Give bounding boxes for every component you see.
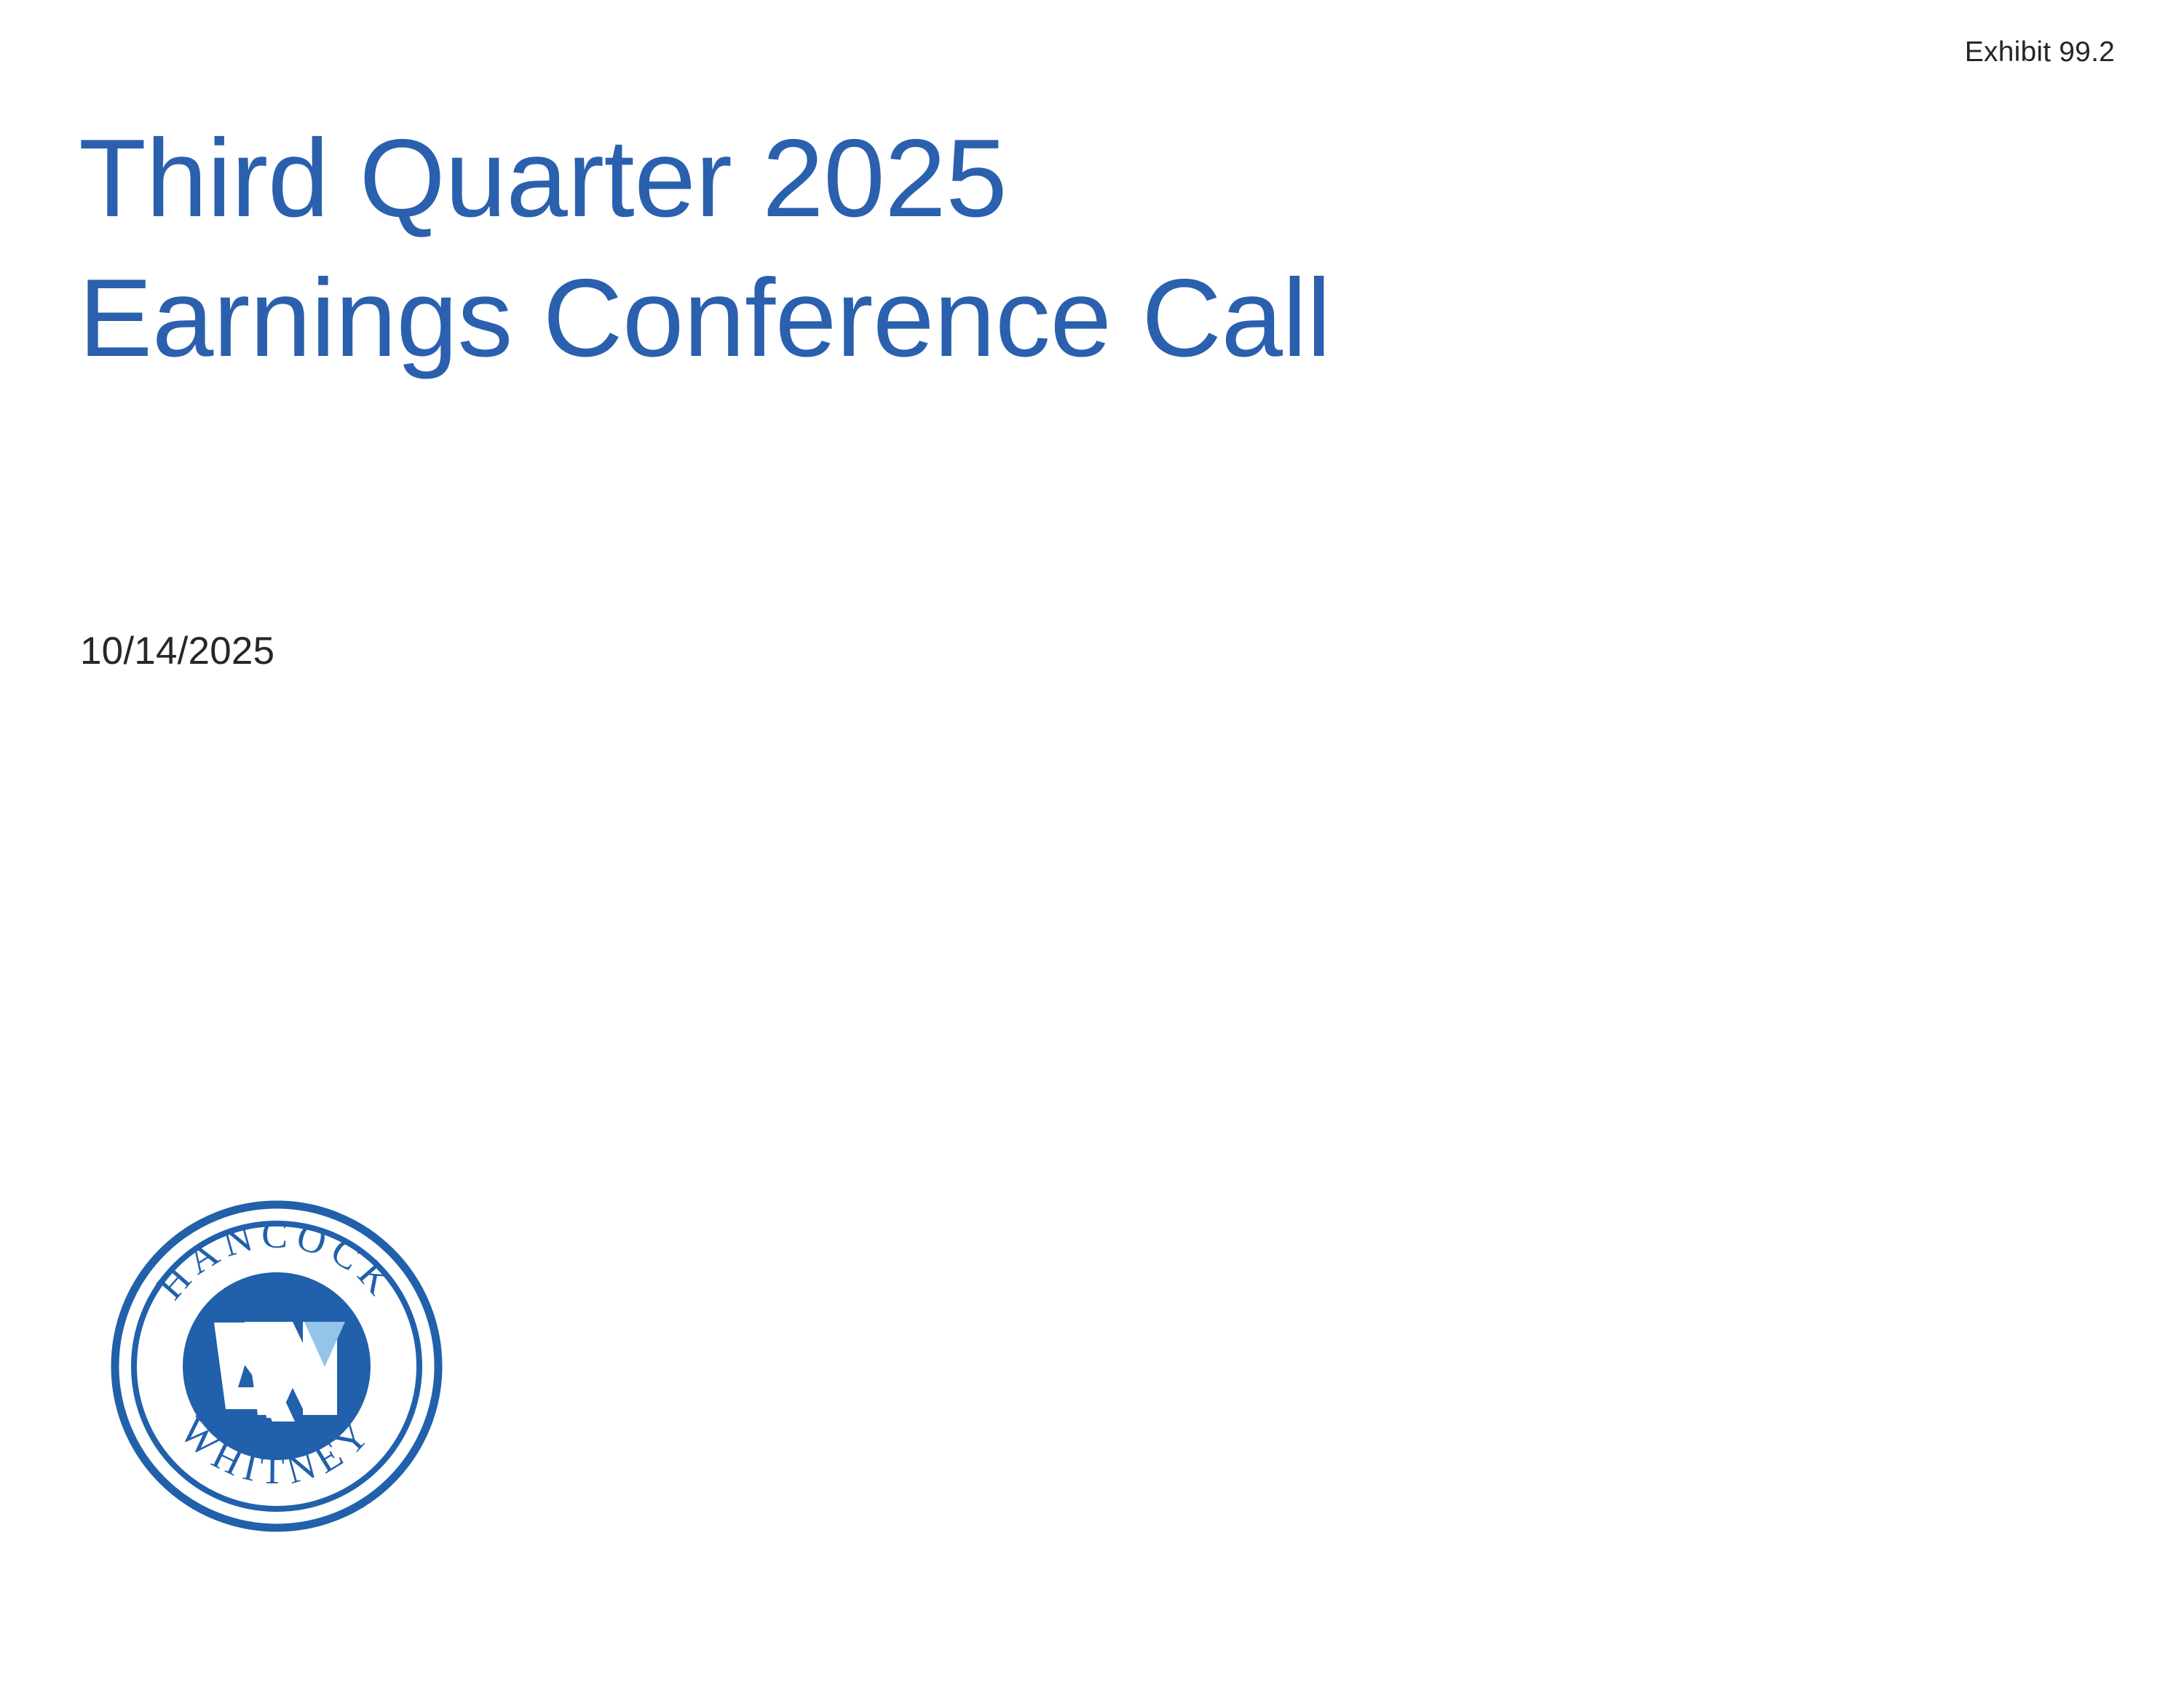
hancock-whitney-logo: HANCOCK WHITNEY [111, 1200, 443, 1533]
page-title: Third Quarter 2025 Earnings Conference C… [79, 109, 1680, 388]
presentation-date: 10/14/2025 [80, 630, 274, 673]
exhibit-label: Exhibit 99.2 [1965, 38, 2115, 68]
logo-w-monogram [214, 1322, 345, 1422]
slide-canvas: Exhibit 99.2 Third Quarter 2025 Earnings… [0, 0, 2184, 1685]
title-line-1: Third Quarter 2025 [79, 109, 1680, 249]
logo-seal-svg: HANCOCK WHITNEY [111, 1200, 443, 1533]
title-line-2: Earnings Conference Call [79, 249, 1680, 389]
